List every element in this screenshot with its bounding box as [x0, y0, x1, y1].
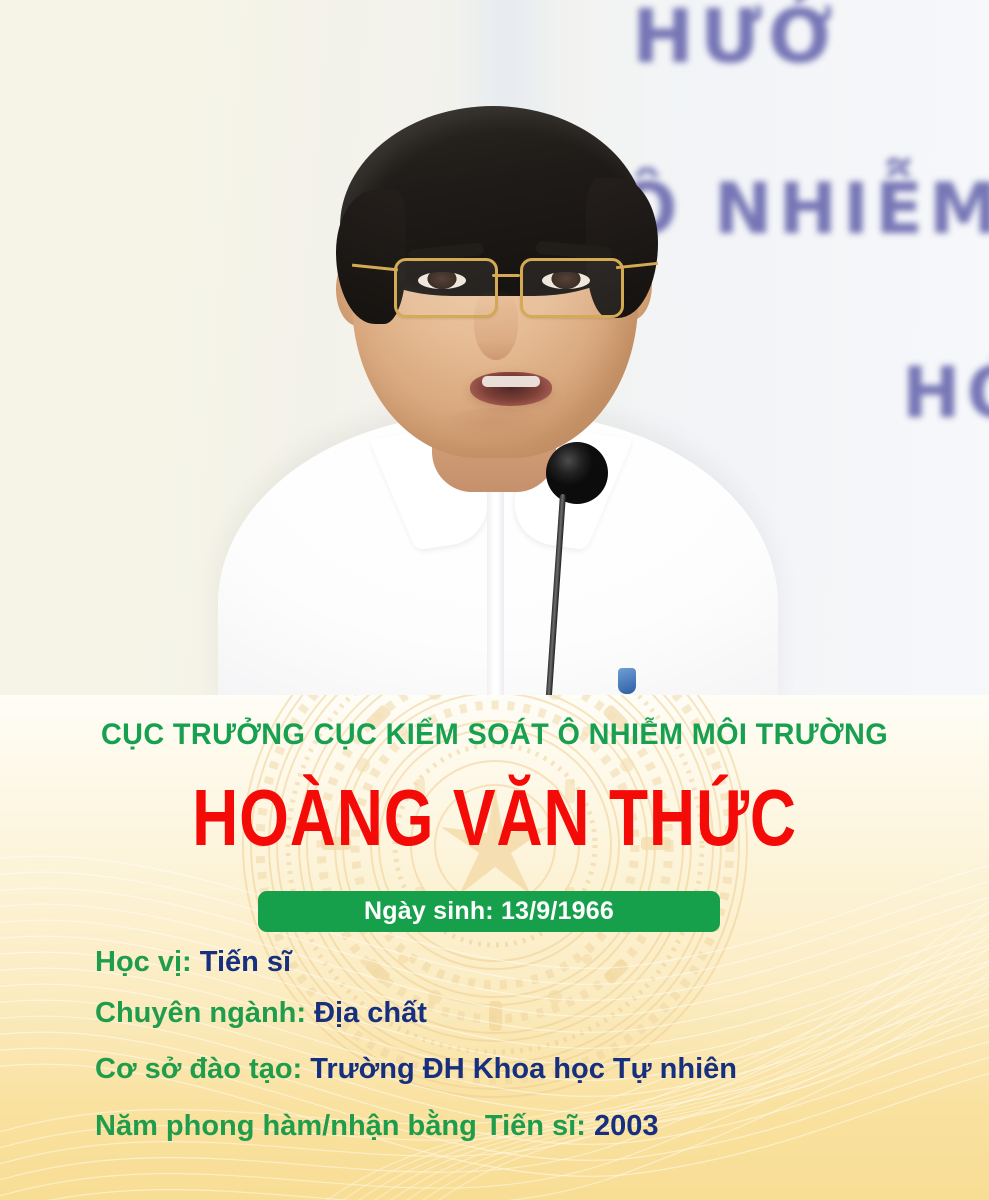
- detail-label-major: Chuyên ngành:: [95, 997, 306, 1029]
- detail-value-major: Địa chất: [314, 997, 427, 1029]
- teeth: [482, 376, 540, 387]
- person-figure: [0, 0, 989, 697]
- chin: [432, 408, 556, 450]
- detail-value-institution: Trường ĐH Khoa học Tự nhiên: [310, 1053, 737, 1085]
- detail-row-major: Chuyên ngành: Địa chất: [95, 997, 965, 1031]
- shirt-placket: [487, 470, 504, 697]
- detail-list: Học vị: Tiến sĩ Chuyên ngành: Địa chất C…: [95, 946, 965, 1161]
- detail-row-degree: Học vị: Tiến sĩ: [95, 946, 965, 980]
- person-name: HOÀNG VĂN THỨC: [99, 778, 890, 858]
- detail-row-institution: Cơ sở đào tạo: Trường ĐH Khoa học Tự nhi…: [95, 1053, 965, 1087]
- microphone-icon: [546, 442, 608, 504]
- detail-label-degree: Học vị:: [95, 946, 192, 978]
- date-of-birth-badge: Ngày sinh: 13/9/1966: [258, 891, 720, 932]
- page-title: CỤC TRƯỞNG CỤC KIỂM SOÁT Ô NHIỄM MÔI TRƯ…: [20, 718, 969, 752]
- detail-row-year: Năm phong hàm/nhận bằng Tiến sĩ: 2003: [95, 1110, 965, 1144]
- eyeglasses-bridge: [492, 274, 520, 277]
- detail-label-year: Năm phong hàm/nhận bằng Tiến sĩ:: [95, 1110, 586, 1142]
- detail-value-degree: Tiến sĩ: [200, 946, 291, 978]
- detail-value-year: 2003: [594, 1110, 659, 1142]
- infographic-poster: HƯỚ Ô NHIỄM HÓ: [0, 0, 989, 1200]
- nose: [474, 290, 518, 360]
- lapel-pin: [618, 668, 636, 694]
- detail-label-institution: Cơ sở đào tạo:: [95, 1053, 302, 1085]
- eyeglasses-lens-right: [520, 258, 624, 318]
- subject-photo: HƯỚ Ô NHIỄM HÓ: [0, 0, 989, 697]
